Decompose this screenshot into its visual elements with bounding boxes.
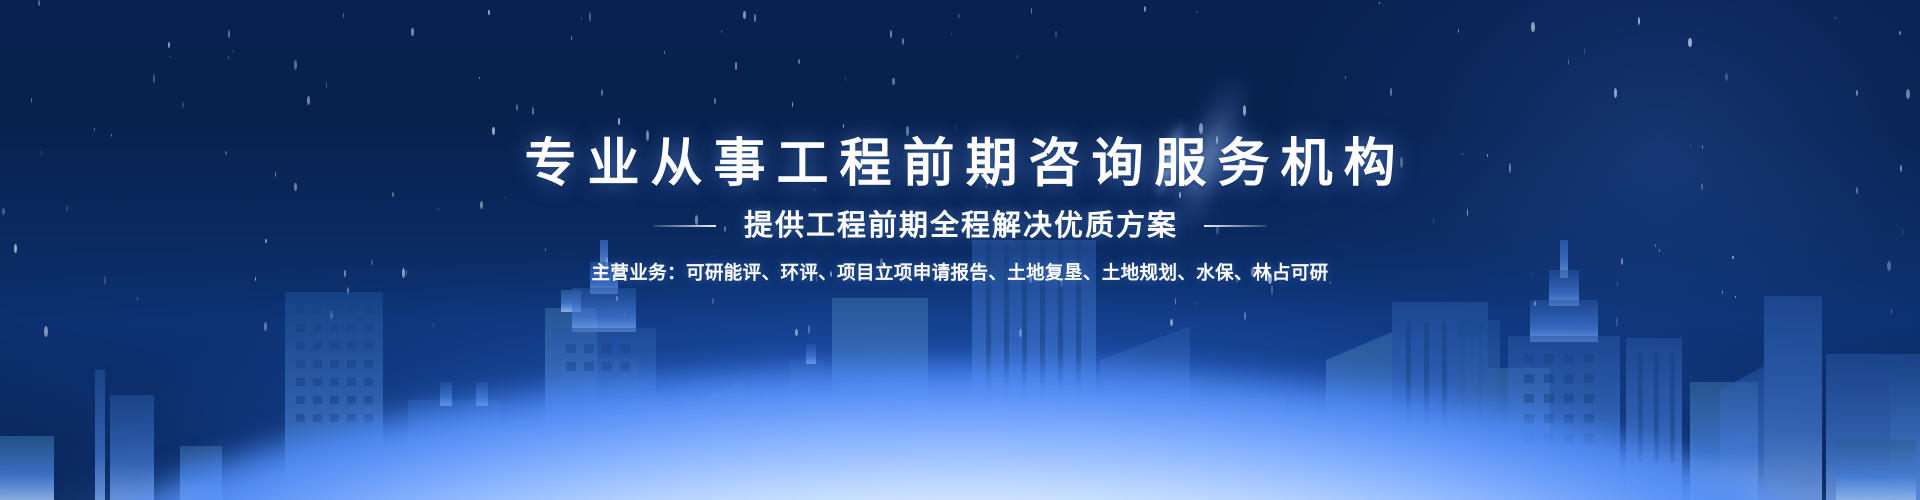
divider-left-icon	[654, 225, 716, 227]
hero-banner: 专业从事工程前期咨询服务机构 提供工程前期全程解决优质方案 主营业务：可研能评、…	[0, 0, 1920, 500]
star-particle	[137, 297, 138, 300]
star-particle	[1616, 317, 1618, 328]
star-particle	[1271, 285, 1273, 295]
horizon-glow	[80, 366, 1840, 500]
star-particle	[1735, 296, 1736, 299]
banner-subtitle: 提供工程前期全程解决优质方案	[742, 210, 1178, 242]
star-particle	[264, 322, 268, 332]
banner-services-line: 主营业务：可研能评、环评、项目立项申请报告、土地复垦、土地规划、水保、林占可研	[0, 262, 1920, 284]
horizon-highlight	[0, 420, 1920, 500]
star-particle	[808, 325, 810, 334]
star-particle	[347, 287, 349, 295]
banner-subtitle-row: 提供工程前期全程解决优质方案	[0, 210, 1920, 242]
divider-right-icon	[1204, 225, 1266, 227]
banner-headline: 专业从事工程前期咨询服务机构	[0, 0, 1920, 190]
star-particle	[795, 329, 798, 337]
star-particle	[1170, 319, 1173, 326]
star-particle	[624, 313, 625, 316]
star-particle	[1722, 291, 1723, 295]
star-particle	[712, 298, 714, 304]
star-particle	[44, 326, 48, 337]
banner-content: 专业从事工程前期咨询服务机构 提供工程前期全程解决优质方案 主营业务：可研能评、…	[0, 0, 1920, 284]
star-particle	[330, 310, 333, 319]
star-particle	[1019, 329, 1022, 337]
star-particle	[1891, 309, 1893, 314]
star-particle	[1534, 301, 1536, 306]
star-particle	[433, 323, 434, 327]
star-particle	[1175, 298, 1176, 305]
star-particle	[616, 296, 618, 301]
star-particle	[1244, 312, 1246, 321]
star-particle	[1196, 302, 1197, 306]
